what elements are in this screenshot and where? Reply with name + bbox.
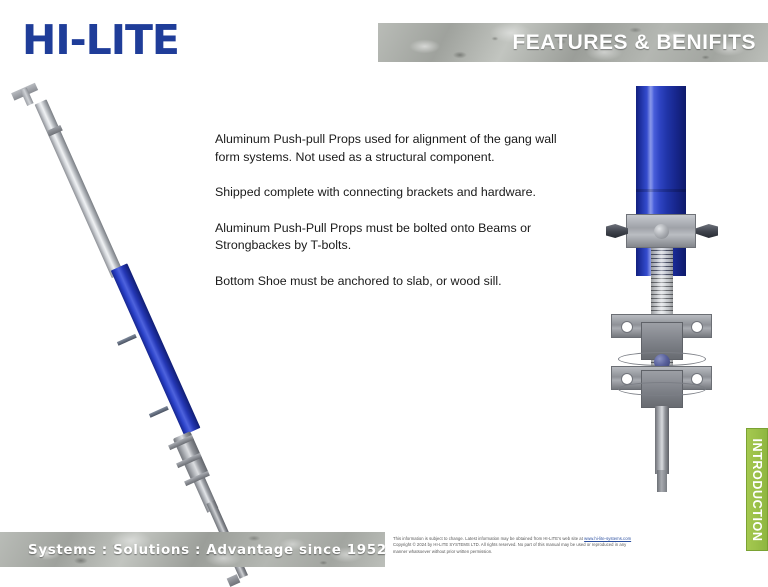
section-tab-introduction[interactable]: INTRODUCTION <box>746 428 768 551</box>
detail-bracket-hole-upper-left <box>621 321 633 333</box>
page-title: FEATURES & BENIFITS <box>512 31 756 55</box>
company-logo: HI-LITE <box>22 20 179 61</box>
detail-collar-bolt-left <box>606 224 628 238</box>
footer-fine-print: This information is subject to change. L… <box>393 536 738 555</box>
prop-upper-grey-tube <box>35 99 124 278</box>
section-tab-label: INTRODUCTION <box>750 438 764 541</box>
detail-collar-boss <box>654 224 669 239</box>
detail-bracket-hole-upper-right <box>691 321 703 333</box>
fine-print-line-3: manner whatsoever without prior written … <box>393 549 492 554</box>
prop-bracket-detail-illustration <box>598 86 738 506</box>
detail-retaining-wire-lower <box>618 382 706 396</box>
header-banner: FEATURES & BENIFITS <box>378 23 768 62</box>
prop-tube-band-upper <box>117 334 137 346</box>
detail-lower-shaft <box>655 406 669 474</box>
prop-blue-aluminum-tube <box>111 263 201 435</box>
push-pull-prop-illustration <box>0 80 290 520</box>
company-website-link[interactable]: www.hi-lite-systems.com <box>584 536 631 541</box>
detail-lower-tip <box>657 470 667 492</box>
detail-collar-bolt-right <box>696 224 718 238</box>
prop-tube-band-lower <box>149 406 169 418</box>
fine-print-line-1: This information is subject to change. L… <box>393 536 584 541</box>
fine-print-line-2: Copyright © 2024 by HI-LITE SYSTEMS LTD.… <box>393 542 626 547</box>
footer-banner: Systems : Solutions : Advantage since 19… <box>0 532 385 567</box>
footer-tagline: Systems : Solutions : Advantage since 19… <box>28 542 387 558</box>
detail-tube-joint-line <box>636 189 686 192</box>
